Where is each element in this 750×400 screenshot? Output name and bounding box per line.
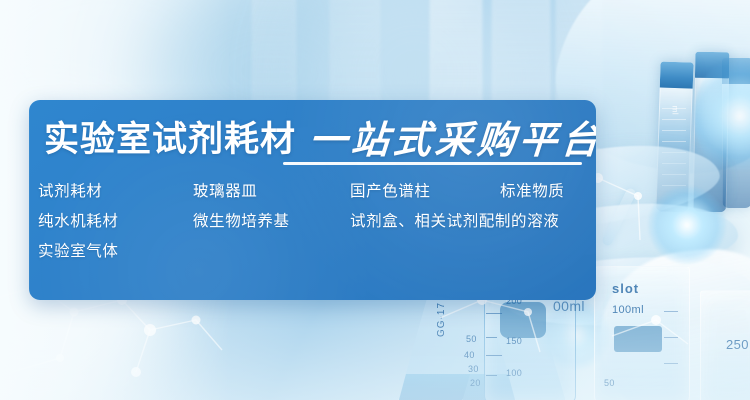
category-item-water-purifier-consumables[interactable]: 纯水机耗材 bbox=[38, 210, 193, 232]
category-item-laboratory-gases[interactable]: 实验室气体 bbox=[38, 240, 193, 262]
beaker-brand-slogan: slot bbox=[612, 281, 639, 296]
tube-volume-label: ml bbox=[669, 100, 682, 122]
category-item-glassware[interactable]: 玻璃器皿 bbox=[193, 180, 350, 202]
category-item-microbial-culture-media[interactable]: 微生物培养基 bbox=[193, 210, 350, 232]
title-underline bbox=[283, 162, 582, 165]
banner-title: 实验室试剂耗材 一站式采购平台 bbox=[44, 119, 596, 161]
tube-cap bbox=[660, 61, 694, 88]
category-item-domestic-chromatography-column[interactable]: 国产色谱柱 bbox=[350, 180, 500, 202]
category-item-reagent-consumables[interactable]: 试剂耗材 bbox=[38, 180, 193, 202]
lab-reagent-banner: ml 250 APPROX 200 150 100 5 bbox=[0, 0, 750, 400]
title-brush-part: 一站式采购平台 bbox=[308, 119, 596, 161]
category-item-reference-materials[interactable]: 标准物质 bbox=[500, 180, 594, 202]
category-item-reagent-kits-and-solutions[interactable]: 试剂盒、相关试剂配制的溶液 bbox=[350, 210, 594, 232]
category-list: 试剂耗材 玻璃器皿 国产色谱柱 标准物质 纯水机耗材 微生物培养基 试剂盒、相关… bbox=[38, 180, 594, 262]
promo-panel: 实验室试剂耗材 一站式采购平台 试剂耗材 玻璃器皿 国产色谱柱 标准物质 纯水机… bbox=[29, 100, 596, 300]
title-bold-part: 实验室试剂耗材 bbox=[44, 119, 296, 161]
